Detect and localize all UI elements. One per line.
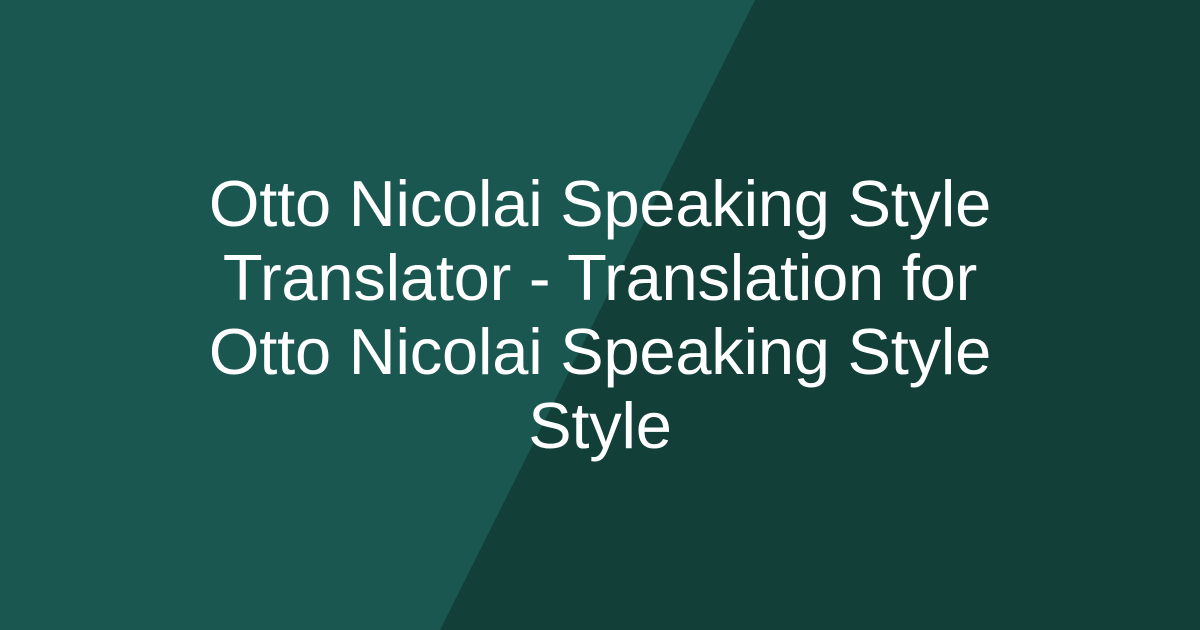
page-title: Otto Nicolai Speaking Style Translator -… xyxy=(180,167,1020,463)
title-container: Otto Nicolai Speaking Style Translator -… xyxy=(0,0,1200,630)
social-share-card: Otto Nicolai Speaking Style Translator -… xyxy=(0,0,1200,630)
